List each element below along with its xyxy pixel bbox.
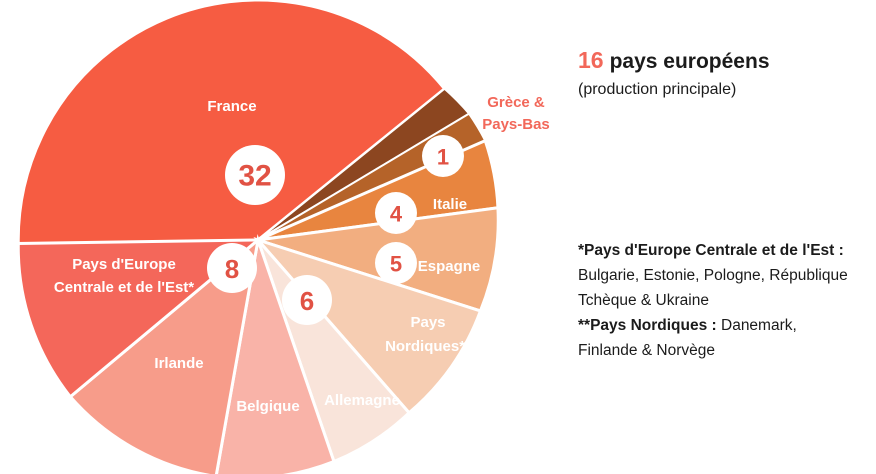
slice-label-pays-nordiques-line1: Pays [410, 314, 445, 331]
slice-label-italie: Italie [433, 196, 467, 213]
slice-label-grece-paysbas-line1: Grèce & [487, 94, 545, 111]
badge-value-france: 32 [238, 160, 271, 193]
slice-label-irlande: Irlande [154, 355, 203, 372]
value-badge-france: 32 [225, 145, 285, 205]
badge-value-pays-europe-centrale: 8 [225, 254, 239, 284]
value-badge-italie: 4 [375, 192, 417, 234]
pie-chart: France Grèce & Pays-Bas Italie Espagne P… [0, 0, 560, 474]
headline-count: 16 [578, 47, 604, 73]
slice-label-grece-paysbas-line2: Pays-Bas [482, 116, 550, 133]
slice-label-allemagne: Allemagne [324, 392, 400, 409]
slice-label-pays-europe-centrale-line2: Centrale et de l'Est* [54, 279, 194, 296]
headline-block: 16pays européens (production principale) [578, 48, 876, 100]
footnote-term-pays-europe-centrale: *Pays d'Europe Centrale et de l'Est : [578, 242, 844, 259]
footnote-body-pays-europe-centrale: Bulgarie, Estonie, Pologne, République T… [578, 267, 848, 309]
slice-label-pays-europe-centrale-line1: Pays d'Europe [72, 256, 176, 273]
footnote-term-pays-nordiques: **Pays Nordiques : [578, 317, 717, 334]
headline-subtitle: (production principale) [578, 79, 876, 100]
footnotes-block: *Pays d'Europe Centrale et de l'Est : Bu… [578, 238, 860, 363]
badge-value-allemagne: 6 [300, 286, 314, 316]
slice-label-belgique: Belgique [236, 398, 299, 415]
slice-label-pays-nordiques-line2: Nordiques** [385, 338, 471, 355]
value-badge-espagne: 5 [375, 242, 417, 284]
pie-chart-panel: France Grèce & Pays-Bas Italie Espagne P… [0, 0, 560, 474]
badge-value-grece-paysbas: 1 [437, 145, 449, 170]
slice-label-espagne: Espagne [418, 258, 481, 275]
footnote-pays-nordiques: **Pays Nordiques : Danemark, Finlande & … [578, 313, 860, 363]
badge-value-espagne: 5 [390, 252, 402, 277]
value-badge-allemagne: 6 [282, 275, 332, 325]
slice-label-france: France [207, 98, 256, 115]
side-panel: 16pays européens (production principale)… [578, 0, 876, 474]
infographic-page: France Grèce & Pays-Bas Italie Espagne P… [0, 0, 876, 474]
value-badge-grece-paysbas: 1 [422, 135, 464, 177]
value-badge-pays-europe-centrale: 8 [207, 243, 257, 293]
footnote-pays-europe-centrale: *Pays d'Europe Centrale et de l'Est : Bu… [578, 238, 860, 313]
headline-title: pays européens [610, 50, 770, 73]
badge-value-italie: 4 [390, 202, 403, 227]
headline-line: 16pays européens [578, 48, 876, 74]
